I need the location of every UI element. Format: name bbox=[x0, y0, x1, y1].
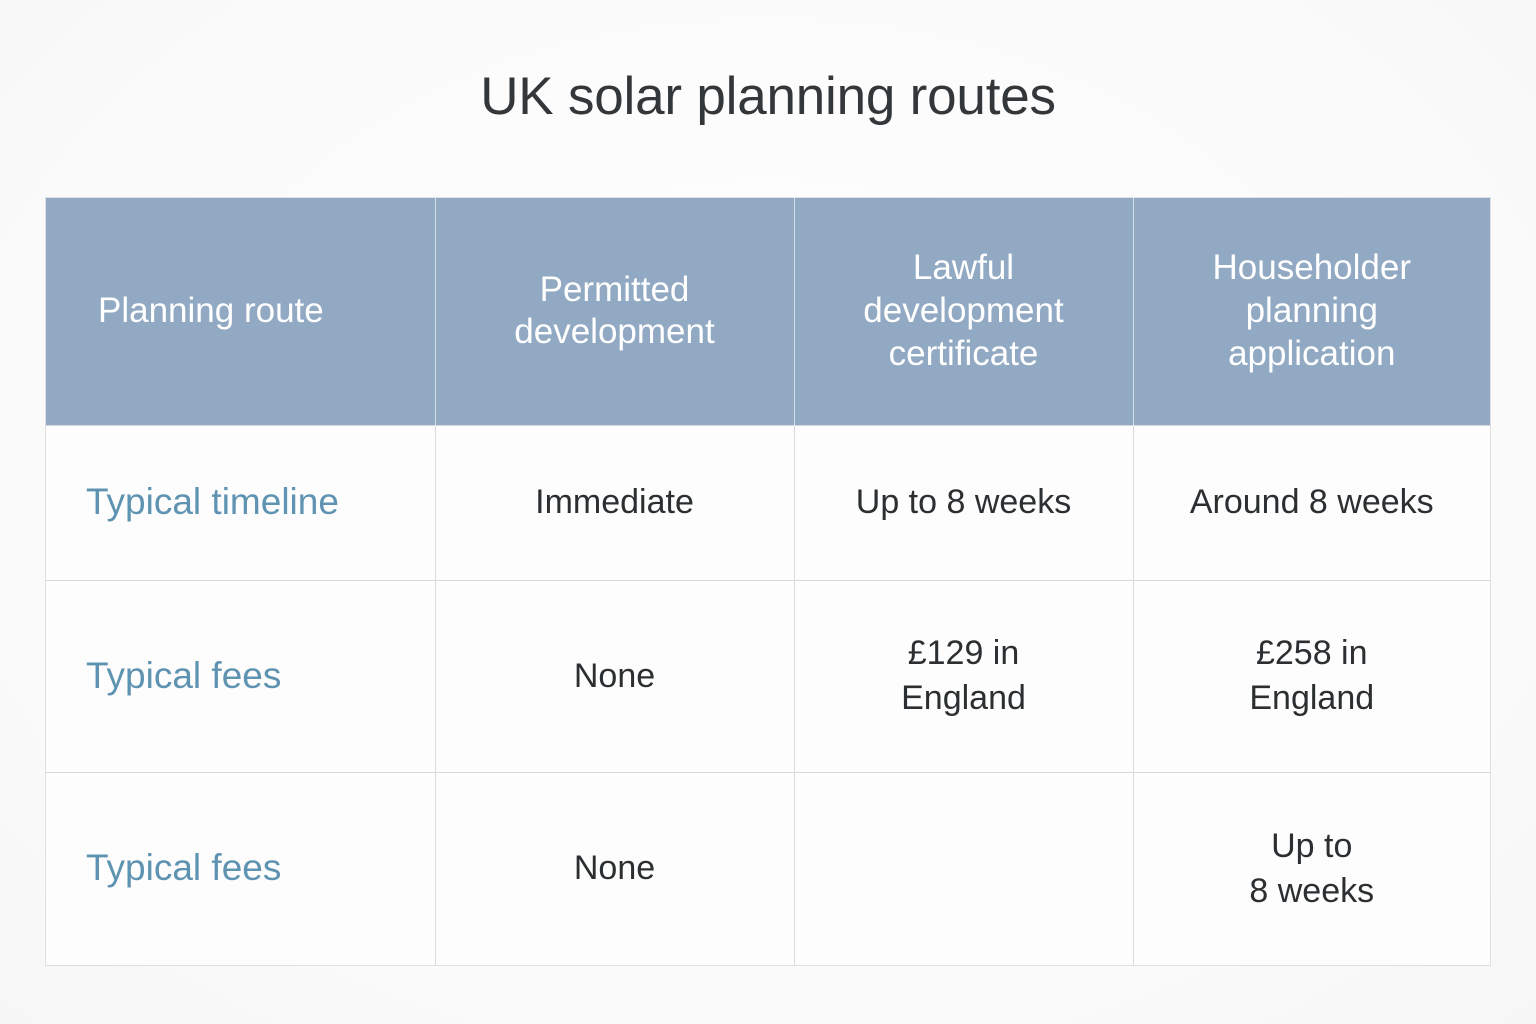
column-header-permitted-development: Permitted development bbox=[435, 198, 794, 425]
column-header-lawful-development-certificate-line2: development bbox=[809, 290, 1119, 333]
page-title: UK solar planning routes bbox=[0, 68, 1536, 126]
cell-typical-fees-2-lawful-development-certificate bbox=[794, 772, 1133, 965]
planning-routes-table-wrapper: Planning route Permitted development Law… bbox=[46, 198, 1490, 965]
cell-typical-timeline-permitted-development: Immediate bbox=[435, 425, 794, 580]
column-header-lawful-development-certificate: Lawful development certificate bbox=[794, 198, 1133, 425]
table-row: Typical fees None £129 in England £258 i… bbox=[46, 580, 1490, 772]
table-row: Typical timeline Immediate Up to 8 weeks… bbox=[46, 425, 1490, 580]
column-header-lawful-development-certificate-line3: certificate bbox=[809, 333, 1119, 376]
cell-typical-fees-1-ldc-line1: £129 in bbox=[809, 631, 1119, 676]
header-row: Planning route Permitted development Law… bbox=[46, 198, 1490, 425]
table-row: Typical fees None Up to 8 weeks bbox=[46, 772, 1490, 965]
cell-typical-fees-1-ldc-line2: England bbox=[809, 676, 1119, 721]
planning-routes-table: Planning route Permitted development Law… bbox=[46, 198, 1490, 965]
column-header-householder-planning-application-line3: application bbox=[1148, 333, 1477, 376]
cell-typical-fees-2-hpa-line1: Up to bbox=[1148, 824, 1477, 869]
column-header-householder-planning-application-line1: Householder bbox=[1148, 247, 1477, 290]
column-header-planning-route-text: Planning route bbox=[98, 290, 421, 333]
table-header: Planning route Permitted development Law… bbox=[46, 198, 1490, 425]
cell-typical-timeline-householder-planning-application: Around 8 weeks bbox=[1133, 425, 1490, 580]
column-header-permitted-development-line1: Permitted bbox=[450, 269, 780, 312]
row-label-typical-fees-1: Typical fees bbox=[46, 580, 435, 772]
cell-typical-fees-2-permitted-development: None bbox=[435, 772, 794, 965]
cell-typical-fees-1-lawful-development-certificate: £129 in England bbox=[794, 580, 1133, 772]
row-label-typical-fees-2: Typical fees bbox=[46, 772, 435, 965]
column-header-householder-planning-application: Householder planning application bbox=[1133, 198, 1490, 425]
column-header-permitted-development-line2: development bbox=[450, 311, 780, 354]
cell-typical-fees-1-hpa-line1: £258 in bbox=[1148, 631, 1477, 676]
column-header-householder-planning-application-line2: planning bbox=[1148, 290, 1477, 333]
column-header-lawful-development-certificate-line1: Lawful bbox=[809, 247, 1119, 290]
table-body: Typical timeline Immediate Up to 8 weeks… bbox=[46, 425, 1490, 965]
cell-typical-fees-2-hpa-line2: 8 weeks bbox=[1148, 869, 1477, 914]
cell-typical-fees-1-householder-planning-application: £258 in England bbox=[1133, 580, 1490, 772]
cell-typical-fees-2-householder-planning-application: Up to 8 weeks bbox=[1133, 772, 1490, 965]
cell-typical-fees-1-hpa-line2: England bbox=[1148, 676, 1477, 721]
cell-typical-fees-1-permitted-development: None bbox=[435, 580, 794, 772]
row-label-typical-timeline: Typical timeline bbox=[46, 425, 435, 580]
cell-typical-timeline-lawful-development-certificate: Up to 8 weeks bbox=[794, 425, 1133, 580]
column-header-planning-route: Planning route bbox=[46, 198, 435, 425]
